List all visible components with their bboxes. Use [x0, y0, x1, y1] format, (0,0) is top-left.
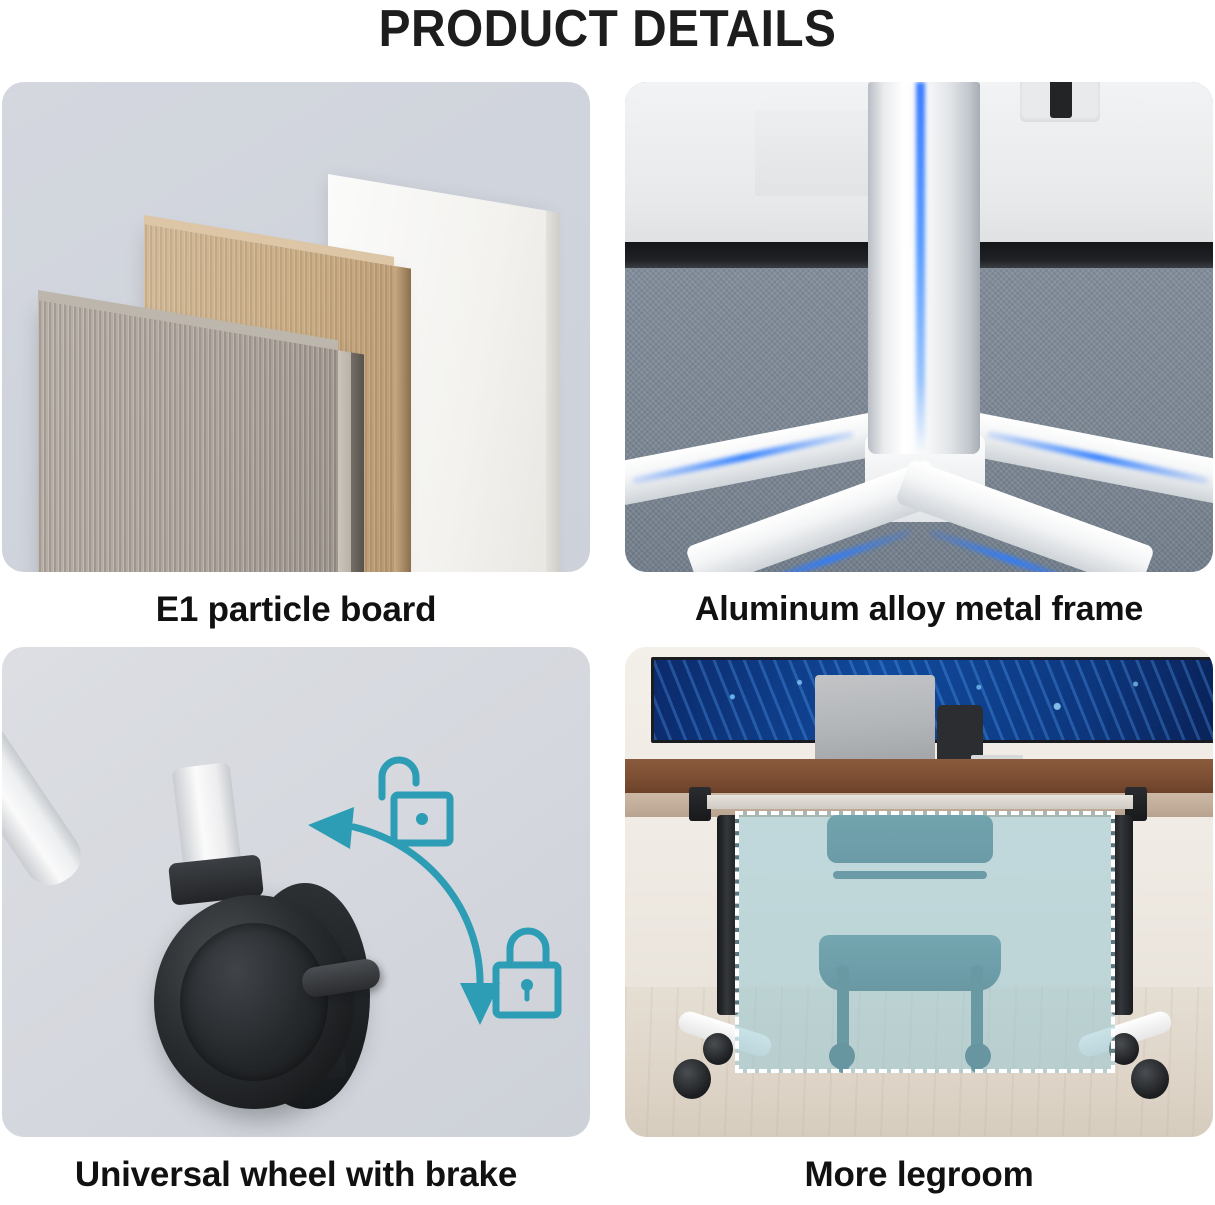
desk-caster-rear-left [703, 1033, 733, 1065]
caption-metal-frame: Aluminum alloy metal frame [625, 590, 1213, 629]
frame-column [868, 82, 980, 454]
board-gray-edge-light [338, 350, 351, 572]
page-title: PRODUCT DETAILS [49, 0, 1167, 62]
board-gray-edge-dark [351, 352, 364, 572]
board-oak-edge [394, 266, 411, 572]
legroom-highlight-area [735, 811, 1115, 1073]
board-gray [38, 300, 338, 572]
curved-double-arrow-icon [345, 827, 480, 1137]
lock-icon [496, 931, 558, 1015]
feature-cell-more-legroom: More legroom [625, 647, 1213, 1195]
wall-clip [1020, 82, 1100, 122]
laptop [815, 675, 935, 763]
desk-caster-front-left [673, 1059, 711, 1099]
desk-crossbar [707, 795, 1133, 809]
feature-cell-universal-wheel: Universal wheel with brake [2, 647, 590, 1195]
desk-caster-front-right [1131, 1059, 1169, 1099]
feature-cell-particle-board: E1 particle board [2, 82, 590, 630]
lock-indicator-overlay [2, 647, 590, 1137]
more-legroom-photo [625, 647, 1213, 1137]
caption-particle-board: E1 particle board [2, 590, 590, 630]
unlock-icon [382, 760, 450, 843]
universal-wheel-photo [2, 647, 590, 1137]
board-white-edge [546, 210, 560, 572]
caption-more-legroom: More legroom [625, 1155, 1213, 1195]
particle-board-photo [2, 82, 590, 572]
feature-grid: E1 particle board Aluminum alloy m [0, 82, 1215, 1205]
feature-cell-metal-frame: Aluminum alloy metal frame [625, 82, 1213, 629]
arrowhead-unlock [308, 807, 354, 849]
frame-column-glow [916, 82, 925, 454]
metal-frame-photo [625, 82, 1213, 572]
wall-panel [755, 110, 875, 196]
caption-universal-wheel: Universal wheel with brake [2, 1155, 590, 1195]
